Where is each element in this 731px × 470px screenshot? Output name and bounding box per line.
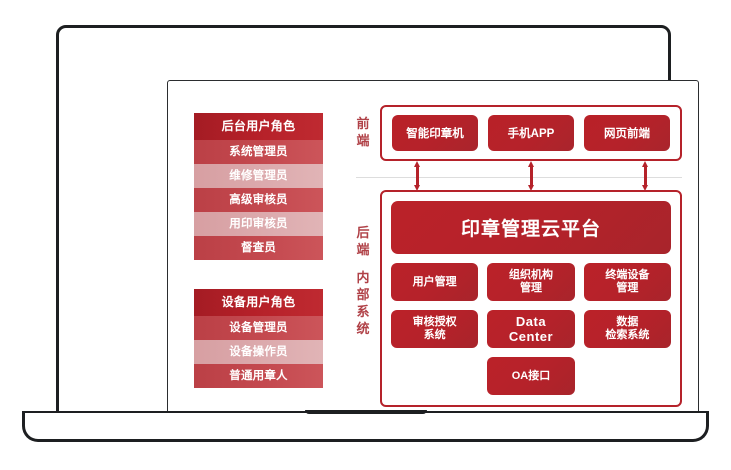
module-organization-management[interactable]: 组织机构管理 [487, 263, 574, 301]
double-headed-vertical-arrow-icon [414, 161, 421, 191]
backend-label-line-1: 后 [356, 225, 369, 240]
module-approval-authorization-system[interactable]: 审核授权系统 [391, 310, 478, 348]
backend-label-line-4: 部 [356, 287, 369, 302]
frontend-card-mobile-app[interactable]: 手机APP [488, 115, 574, 151]
frontend-tier: 前 端 智能印章机 手机APP 网页前端 [346, 105, 682, 161]
roles-column: 后台用户角色 系统管理员 维修管理员 高级审核员 用印审核员 督查员 设备用户角… [194, 113, 323, 388]
module-user-management[interactable]: 用户管理 [391, 263, 478, 301]
module-terminal-device-management[interactable]: 终端设备管理 [584, 263, 671, 301]
frontend-card-smart-stamp-machine[interactable]: 智能印章机 [392, 115, 478, 151]
backend-module-grid: 用户管理 组织机构管理 终端设备管理 审核授权系统 DataCenter 数据检… [391, 263, 671, 395]
device-roles-table: 设备用户角色 设备管理员 设备操作员 普通用章人 [194, 289, 323, 388]
cloud-platform-banner: 印章管理云平台 [391, 201, 671, 254]
frontend-tier-label: 前 端 [346, 105, 380, 149]
role-row: 设备操作员 [194, 340, 323, 364]
frontend-label-line-2: 端 [356, 133, 369, 148]
tier-connectors [380, 161, 682, 191]
backend-tier: 后 端 内 部 系 统 印章管理云平台 用户管理 组织机构管理 终端设备 [346, 190, 682, 407]
role-row: 设备管理员 [194, 316, 323, 340]
backoffice-roles-header: 后台用户角色 [194, 113, 323, 140]
double-headed-vertical-arrow-icon [642, 161, 649, 191]
architecture-column: 前 端 智能印章机 手机APP 网页前端 [346, 105, 682, 405]
backend-tier-label: 后 端 内 部 系 统 [346, 190, 380, 337]
role-row: 维修管理员 [194, 164, 323, 188]
role-row: 用印审核员 [194, 212, 323, 236]
double-headed-vertical-arrow-icon [528, 161, 535, 191]
laptop-screen-bezel: 后台用户角色 系统管理员 维修管理员 高级审核员 用印审核员 督查员 设备用户角… [56, 25, 671, 415]
frontend-card-web-frontend[interactable]: 网页前端 [584, 115, 670, 151]
module-oa-interface[interactable]: OA接口 [487, 357, 574, 395]
laptop-base [22, 413, 709, 442]
module-data-center[interactable]: DataCenter [487, 310, 574, 348]
backend-tier-box: 印章管理云平台 用户管理 组织机构管理 终端设备管理 审核授权系统 DataCe… [380, 190, 682, 407]
role-row: 系统管理员 [194, 140, 323, 164]
frontend-tier-box: 智能印章机 手机APP 网页前端 [380, 105, 682, 161]
backoffice-roles-table: 后台用户角色 系统管理员 维修管理员 高级审核员 用印审核员 督查员 [194, 113, 323, 260]
device-roles-header: 设备用户角色 [194, 289, 323, 316]
role-row: 普通用章人 [194, 364, 323, 388]
backend-label-line-3: 内 [356, 270, 369, 285]
backend-label-line-6: 统 [356, 321, 369, 336]
backend-label-line-5: 系 [356, 304, 369, 319]
frontend-label-line-1: 前 [356, 116, 369, 131]
diagram-content-panel: 后台用户角色 系统管理员 维修管理员 高级审核员 用印审核员 督查员 设备用户角… [167, 80, 699, 425]
module-data-retrieval-system[interactable]: 数据检索系统 [584, 310, 671, 348]
role-row: 督查员 [194, 236, 323, 260]
backend-label-line-2: 端 [356, 242, 369, 257]
role-row: 高级审核员 [194, 188, 323, 212]
screenshot-root: 后台用户角色 系统管理员 维修管理员 高级审核员 用印审核员 督查员 设备用户角… [0, 0, 731, 470]
